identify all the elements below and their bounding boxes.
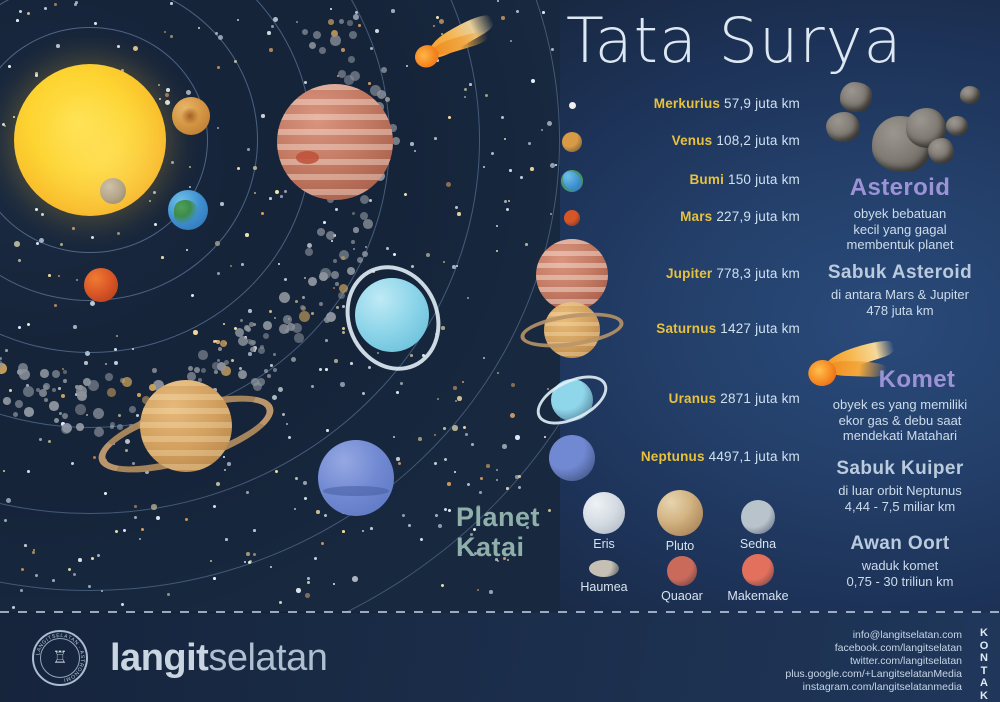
earth-orbit-illustration <box>168 190 208 230</box>
komet-desc-line-3: mendekati Matahari <box>800 428 1000 444</box>
kontak-letter: K <box>974 627 994 640</box>
asteroid-desc-line-1: obyek bebatuan <box>800 206 1000 222</box>
planet-label: Neptunus 4497,1 juta km <box>641 449 800 464</box>
planet-distance: 2871 juta km <box>716 391 800 406</box>
jupiter-icon <box>536 239 608 311</box>
uranus-orbit-illustration <box>355 278 429 352</box>
neptunus-icon <box>549 435 595 481</box>
dwarf-planet-item: Quaoar <box>646 556 718 603</box>
planet-distance: 778,3 juta km <box>712 266 800 281</box>
planet-name: Mars <box>680 209 712 224</box>
dwarf-planets-section: Planet Katai ErisPlutoSednaHaumeaQuaoarM… <box>440 480 800 612</box>
mars-icon <box>564 210 580 226</box>
komet-desc-line-1: obyek es yang memiliki <box>800 397 1000 413</box>
asteroid-rock <box>840 82 872 112</box>
jupiter-orbit-illustration <box>277 84 393 200</box>
awan-oort-line-2: 0,75 - 30 triliun km <box>800 574 1000 590</box>
planet-name: Saturnus <box>656 321 716 336</box>
komet-title: Komet <box>800 366 1000 394</box>
dwarf-planet-item: Makemake <box>722 554 794 603</box>
dwarf-title-line-1: Planet <box>456 502 576 532</box>
planet-name: Neptunus <box>641 449 705 464</box>
planet-label: Jupiter 778,3 juta km <box>666 266 800 281</box>
komet-block: Komet obyek es yang memiliki ekor gas & … <box>800 366 1000 444</box>
asteroid-title: Asteroid <box>800 174 1000 202</box>
neptune-orbit-illustration <box>318 440 394 516</box>
asteroid-block: Asteroid obyek bebatuan kecil yang gagal… <box>800 174 1000 253</box>
planet-name: Jupiter <box>666 266 712 281</box>
planet-label: Uranus 2871 juta km <box>669 391 800 406</box>
planet-distance: 150 juta km <box>724 172 800 187</box>
contact-twitter[interactable]: twitter.com/langitselatan <box>785 655 962 668</box>
dwarf-planet-item: Haumea <box>568 560 640 594</box>
dwarf-planet-item: Eris <box>568 492 640 551</box>
planet-label: Mars 227,9 juta km <box>680 209 800 224</box>
kontak-letter: T <box>974 665 994 678</box>
asteroid-cluster-illustration <box>810 82 996 174</box>
sabuk-kuiper-line-1: di luar orbit Neptunus <box>800 483 1000 499</box>
komet-desc-line-2: ekor gas & debu saat <box>800 413 1000 429</box>
sabuk-asteroid-line-2: 478 juta km <box>800 303 1000 319</box>
planet-label: Saturnus 1427 juta km <box>656 321 800 336</box>
planet-label: Bumi 150 juta km <box>689 172 800 187</box>
awan-oort-block: Awan Oort waduk komet 0,75 - 30 triliun … <box>800 533 1000 589</box>
sabuk-asteroid-title: Sabuk Asteroid <box>800 262 1000 284</box>
asteroid-desc-line-3: membentuk planet <box>800 237 1000 253</box>
bumi-icon <box>561 170 583 192</box>
dwarf-planet-name: Quaoar <box>646 589 718 603</box>
planet-distance: 108,2 juta km <box>712 133 800 148</box>
dwarf-title-line-2: Katai <box>456 532 576 562</box>
eris-icon <box>583 492 625 534</box>
planet-distance: 1427 juta km <box>716 321 800 336</box>
pluto-icon <box>657 490 703 536</box>
sabuk-kuiper-block: Sabuk Kuiper di luar orbit Neptunus 4,44… <box>800 458 1000 514</box>
dwarf-planet-item: Pluto <box>644 490 716 553</box>
contact-instagram[interactable]: instagram.com/langitselatanmedia <box>785 681 962 694</box>
kontak-letter: O <box>974 640 994 653</box>
dwarf-planet-name: Sedna <box>722 537 794 551</box>
sedna-icon <box>741 500 775 534</box>
right-info-column: Asteroid obyek bebatuan kecil yang gagal… <box>800 0 1000 612</box>
kontak-letter: K <box>974 690 994 702</box>
dwarf-planet-name: Makemake <box>722 589 794 603</box>
uranus-ring-icon <box>529 365 615 434</box>
planet-name: Bumi <box>689 172 724 187</box>
dwarf-planet-name: Haumea <box>568 580 640 594</box>
asteroid-rock <box>826 112 860 142</box>
makemake-icon <box>742 554 774 586</box>
mars-orbit-illustration <box>84 268 118 302</box>
dwarf-planets-title: Planet Katai <box>456 502 576 562</box>
dwarf-planet-item: Sedna <box>722 500 794 551</box>
sabuk-asteroid-line-1: di antara Mars & Jupiter <box>800 287 1000 303</box>
asteroid-rock <box>960 86 980 104</box>
planet-name: Merkurius <box>654 96 720 111</box>
kontak-letter: A <box>974 677 994 690</box>
saturn-ring-icon <box>518 307 625 353</box>
svg-text:LANGITSELATAN · ASTRONOMI: LANGITSELATAN · ASTRONOMI <box>35 633 85 683</box>
brand-light: selatan <box>208 637 327 679</box>
sabuk-asteroid-block: Sabuk Asteroid di antara Mars & Jupiter … <box>800 262 1000 318</box>
planet-label: Merkurius 57,9 juta km <box>654 96 800 111</box>
contact-facebook[interactable]: facebook.com/langitselatan <box>785 642 962 655</box>
haumea-icon <box>589 560 619 577</box>
dwarf-planet-name: Pluto <box>644 539 716 553</box>
footer: ♖ LANGITSELATAN · ASTRONOMI langitselata… <box>0 613 1000 702</box>
saturn-orbit-illustration <box>140 380 232 472</box>
venus-orbit-illustration <box>172 97 210 135</box>
quaoar-icon <box>667 556 697 586</box>
asteroid-desc-line-2: kecil yang gagal <box>800 222 1000 238</box>
kontak-vertical-label: KONTAK <box>974 627 994 702</box>
planet-name: Venus <box>672 133 713 148</box>
sun-illustration <box>14 64 166 216</box>
brand-wordmark: langitselatan <box>110 637 327 679</box>
contact-list: info@langitselatan.com facebook.com/lang… <box>785 629 962 694</box>
planet-distance: 4497,1 juta km <box>705 449 800 464</box>
planet-label: Venus 108,2 juta km <box>672 133 800 148</box>
sabuk-kuiper-title: Sabuk Kuiper <box>800 458 1000 480</box>
awan-oort-line-1: waduk komet <box>800 558 1000 574</box>
planet-distance: 57,9 juta km <box>720 96 800 111</box>
planet-name: Uranus <box>669 391 717 406</box>
asteroid-rock <box>946 116 968 136</box>
venus-icon <box>562 132 582 152</box>
dwarf-planet-name: Eris <box>568 537 640 551</box>
asteroid-rock <box>928 138 954 164</box>
kontak-letter: N <box>974 652 994 665</box>
logo-ring-text: LANGITSELATAN · ASTRONOMI <box>32 630 88 686</box>
planet-distance: 227,9 juta km <box>712 209 800 224</box>
merkurius-icon <box>569 102 576 109</box>
contact-googleplus[interactable]: plus.google.com/+LangitselatanMedia <box>785 668 962 681</box>
contact-email[interactable]: info@langitselatan.com <box>785 629 962 642</box>
poster-canvas: Tata Surya Merkurius 57,9 juta kmVenus 1… <box>0 0 1000 702</box>
brand-bold: langit <box>110 637 208 679</box>
sabuk-kuiper-line-2: 4,44 - 7,5 miliar km <box>800 499 1000 515</box>
awan-oort-title: Awan Oort <box>800 533 1000 555</box>
mercury-orbit-illustration <box>100 178 126 204</box>
